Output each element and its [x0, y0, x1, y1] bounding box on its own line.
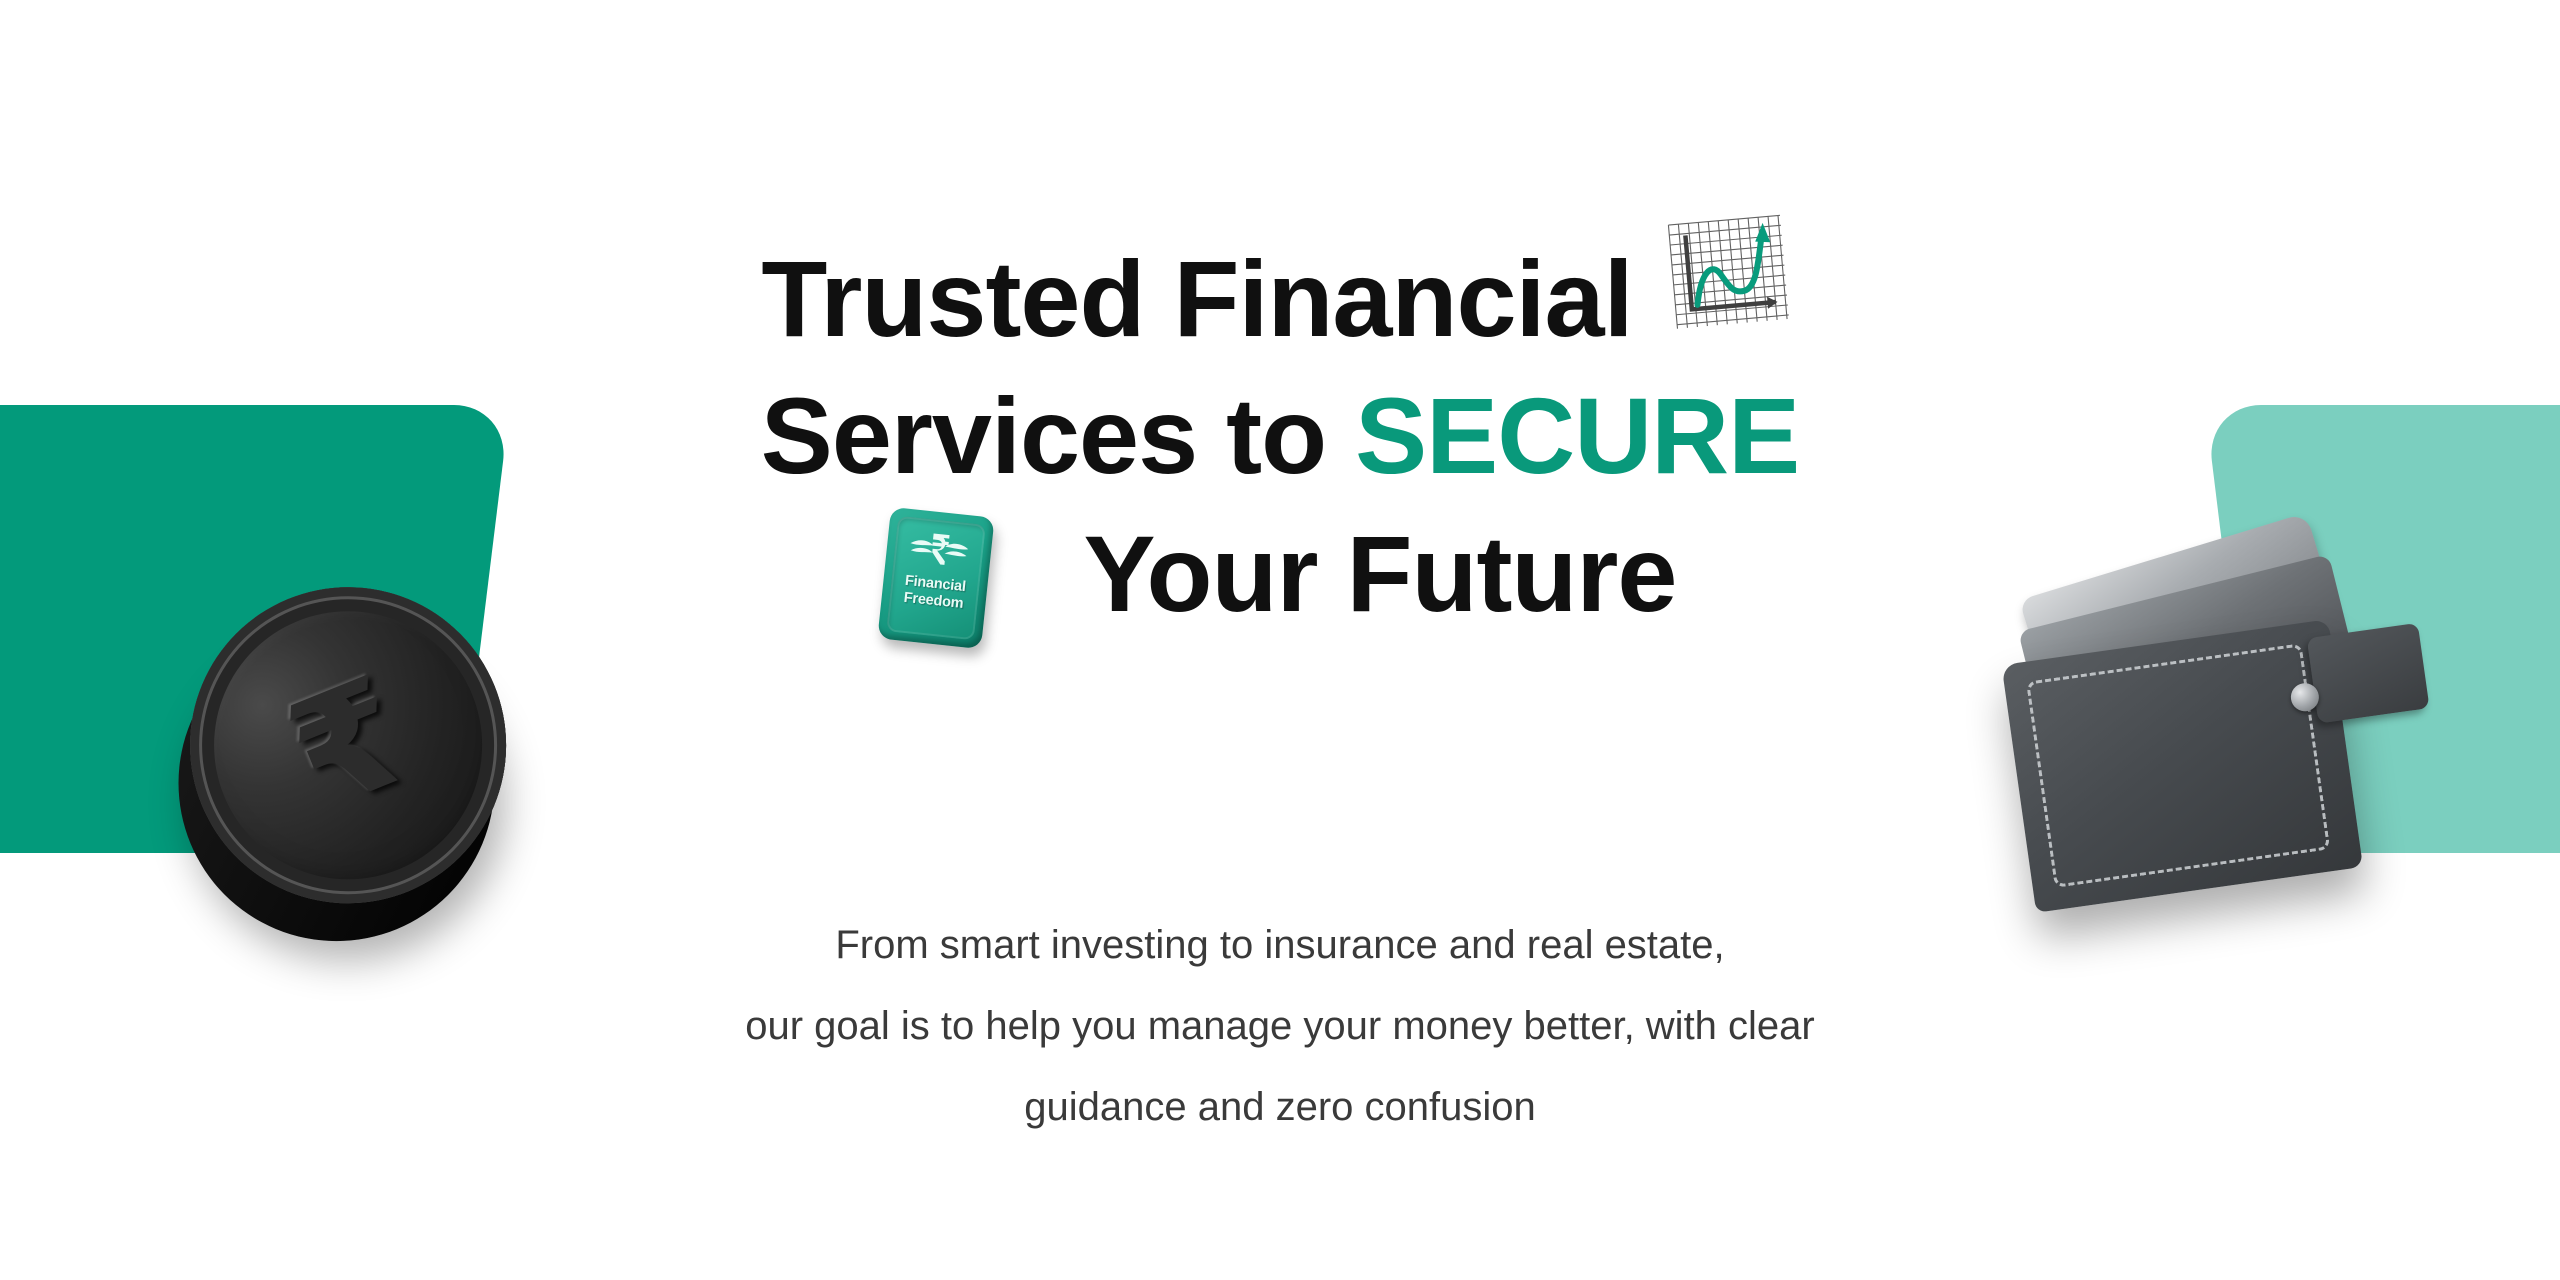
headline-line-3: Financial Freedom Your Future	[0, 511, 2560, 652]
winged-rupee-icon	[905, 525, 971, 577]
hero-headline: Trusted Financial	[0, 208, 2560, 652]
description-line-3: guidance and zero confusion	[0, 1067, 2560, 1148]
headline-line-2-text: Services to	[761, 375, 1355, 496]
hero-section: ₹ Trusted Financial	[0, 0, 2560, 1280]
headline-line-1: Trusted Financial	[0, 208, 2560, 361]
chart-increasing-icon	[1659, 208, 1799, 342]
badge-title: Financial Freedom	[902, 573, 966, 613]
headline-line-2: Services to SECURE	[0, 373, 2560, 498]
financial-freedom-badge-icon: Financial Freedom	[877, 507, 994, 649]
wallet-body	[2001, 619, 2363, 912]
headline-accent-secure: SECURE	[1355, 375, 1799, 496]
headline-line-1-text: Trusted Financial	[761, 238, 1632, 359]
description-line-1: From smart investing to insurance and re…	[0, 905, 2560, 986]
headline-line-3-text: Your Future	[1084, 513, 1677, 634]
description-line-2: our goal is to help you manage your mone…	[0, 986, 2560, 1067]
wallet-stitching	[2026, 643, 2330, 888]
rupee-symbol: ₹	[272, 656, 425, 834]
hero-description: From smart investing to insurance and re…	[0, 905, 2560, 1147]
badge-inner-face: Financial Freedom	[886, 516, 986, 641]
